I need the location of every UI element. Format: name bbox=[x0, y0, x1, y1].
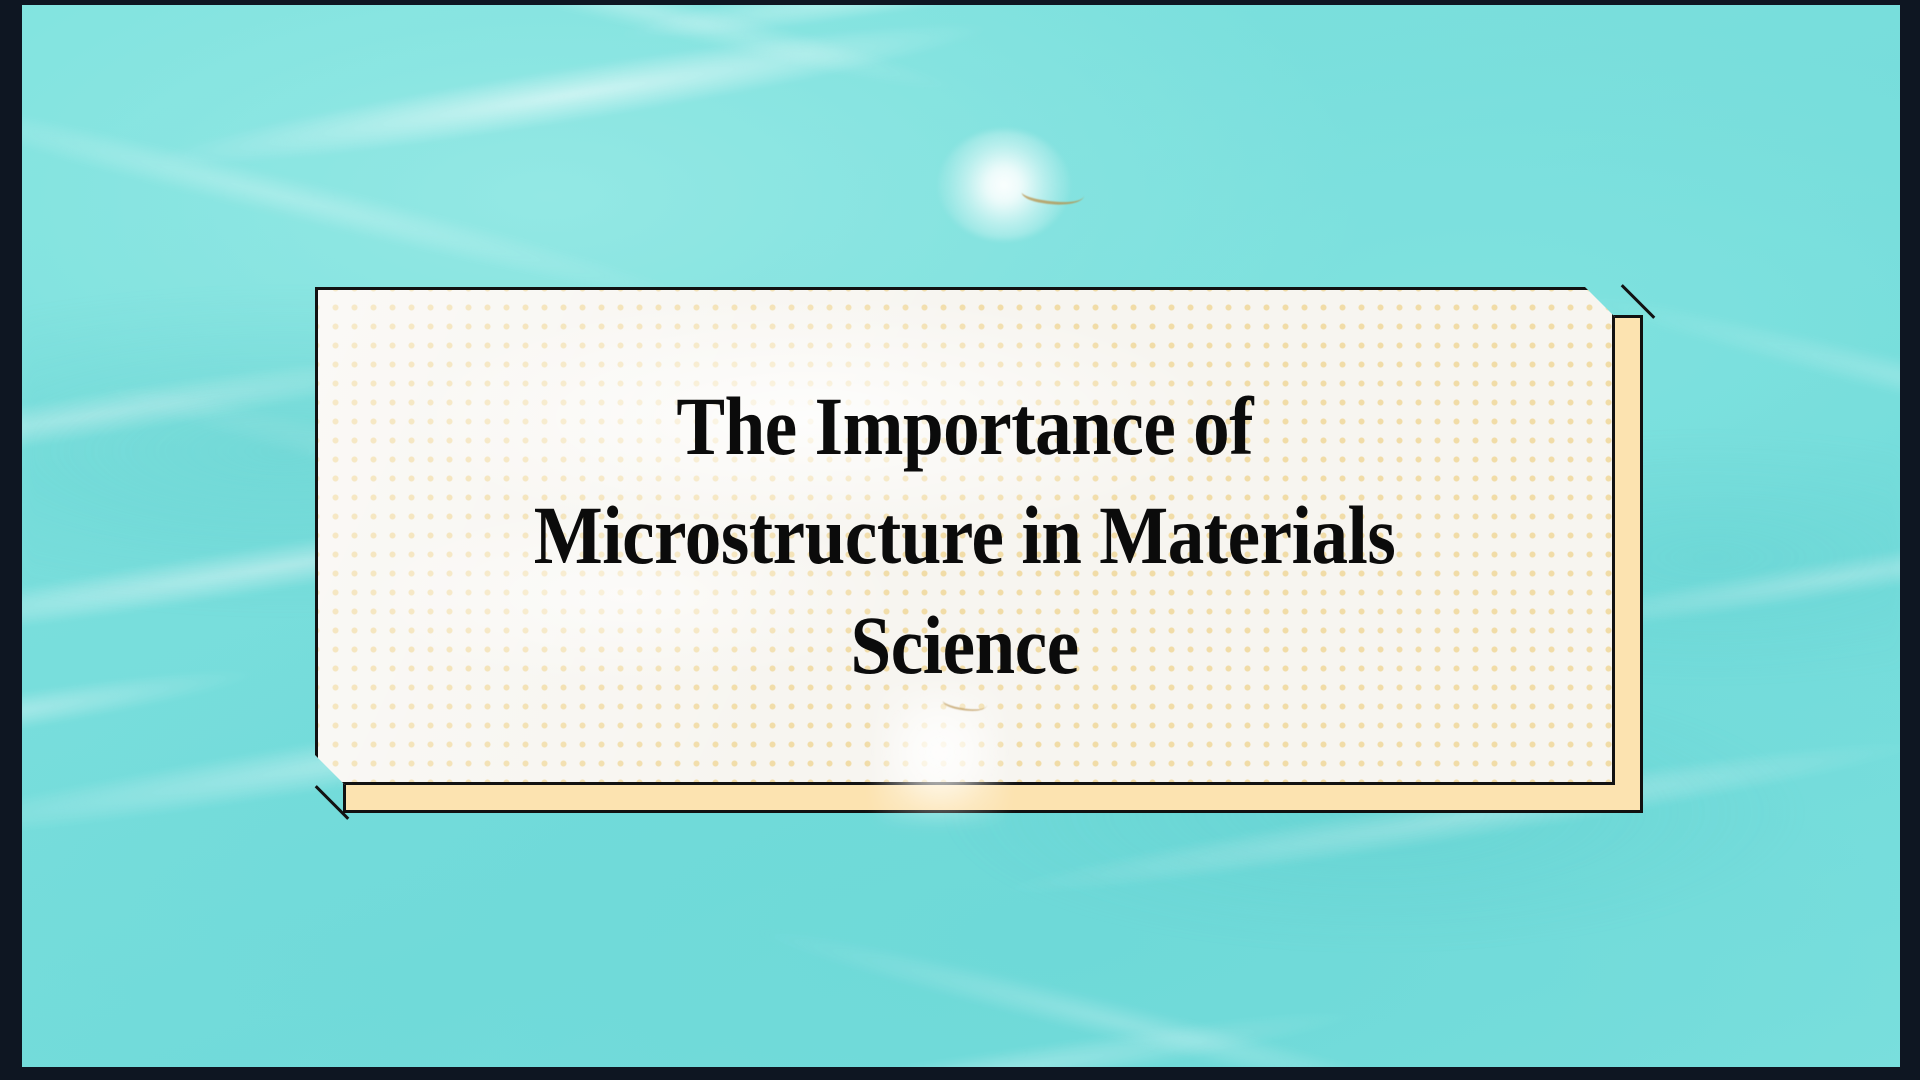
slide-title: The Importance of Microstructure in Mate… bbox=[315, 287, 1615, 785]
folded-corner-icon-top-right bbox=[1621, 284, 1656, 319]
slide-canvas: The Importance of Microstructure in Mate… bbox=[22, 5, 1900, 1067]
slide-title-line-1: The Importance of bbox=[677, 372, 1254, 482]
slide-title-line-2: Microstructure in Materials bbox=[534, 481, 1396, 591]
slide-outer-frame: The Importance of Microstructure in Mate… bbox=[0, 0, 1920, 1080]
title-card: The Importance of Microstructure in Mate… bbox=[315, 287, 1655, 817]
slide-title-line-3: Science bbox=[851, 591, 1079, 701]
